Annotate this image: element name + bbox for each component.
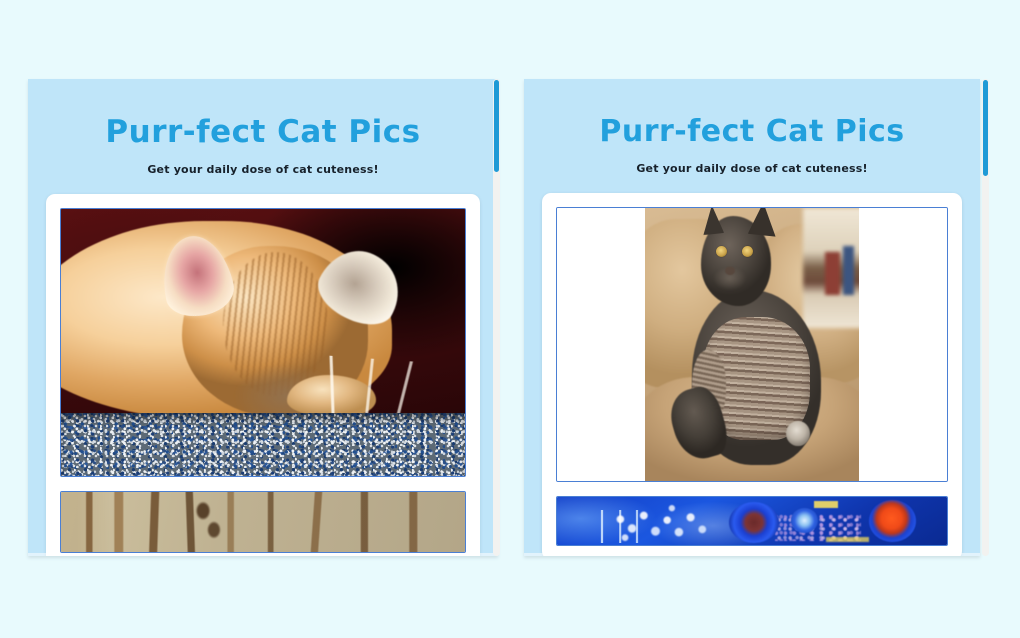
bamboo-photo-canvas xyxy=(61,492,465,552)
right-viewport-scrollbar-thumb[interactable] xyxy=(983,80,988,176)
bamboo-curl-detail xyxy=(186,497,230,550)
page-title: Purr-fect Cat Pics xyxy=(44,79,482,149)
page-subtitle: Get your daily dose of cat cuteness! xyxy=(44,149,482,176)
kitten-photo-canvas xyxy=(61,209,465,476)
cat-left-eye xyxy=(716,246,727,257)
reef-anemone-orange xyxy=(869,500,916,542)
bookshelf-red-book xyxy=(825,252,840,296)
left-viewport-scrollbar-thumb[interactable] xyxy=(494,80,499,172)
gallery-card xyxy=(46,194,480,556)
photo-sleeping-ginger-kitten[interactable] xyxy=(60,208,466,477)
cat-hind-paw xyxy=(786,421,810,446)
photo-grey-cat-in-sweater[interactable] xyxy=(556,207,948,482)
page-title: Purr-fect Cat Pics xyxy=(540,79,964,148)
reef-yellow-accent-bottom xyxy=(826,537,869,542)
left-viewport-scrollbar[interactable] xyxy=(493,79,500,556)
page-content-left: Purr-fect Cat Pics Get your daily dose o… xyxy=(28,79,498,556)
reef-photo-canvas xyxy=(557,497,947,545)
reef-white-coral xyxy=(604,499,721,545)
photo-bamboo-slats[interactable] xyxy=(60,491,466,553)
bookshelf-blue-book xyxy=(843,246,854,295)
right-viewport: Purr-fect Cat Pics Get your daily dose o… xyxy=(524,79,980,556)
gallery-card xyxy=(542,193,962,556)
left-viewport: Purr-fect Cat Pics Get your daily dose o… xyxy=(28,79,498,556)
bamboo-slat-lines xyxy=(61,492,465,552)
page-subtitle: Get your daily dose of cat cuteness! xyxy=(540,148,964,175)
right-viewport-scrollbar[interactable] xyxy=(982,79,989,556)
screenshot-stage: Purr-fect Cat Pics Get your daily dose o… xyxy=(0,0,1020,638)
reef-anemone-dark xyxy=(729,502,780,543)
page-content-right: Purr-fect Cat Pics Get your daily dose o… xyxy=(524,79,980,556)
reef-yellow-accent-top xyxy=(814,501,837,508)
sweatercat-photo-canvas xyxy=(557,208,947,481)
sweatercat-scene xyxy=(645,208,860,481)
photo-blue-aquarium-reef[interactable] xyxy=(556,496,948,546)
kitten-carpet xyxy=(61,413,465,476)
